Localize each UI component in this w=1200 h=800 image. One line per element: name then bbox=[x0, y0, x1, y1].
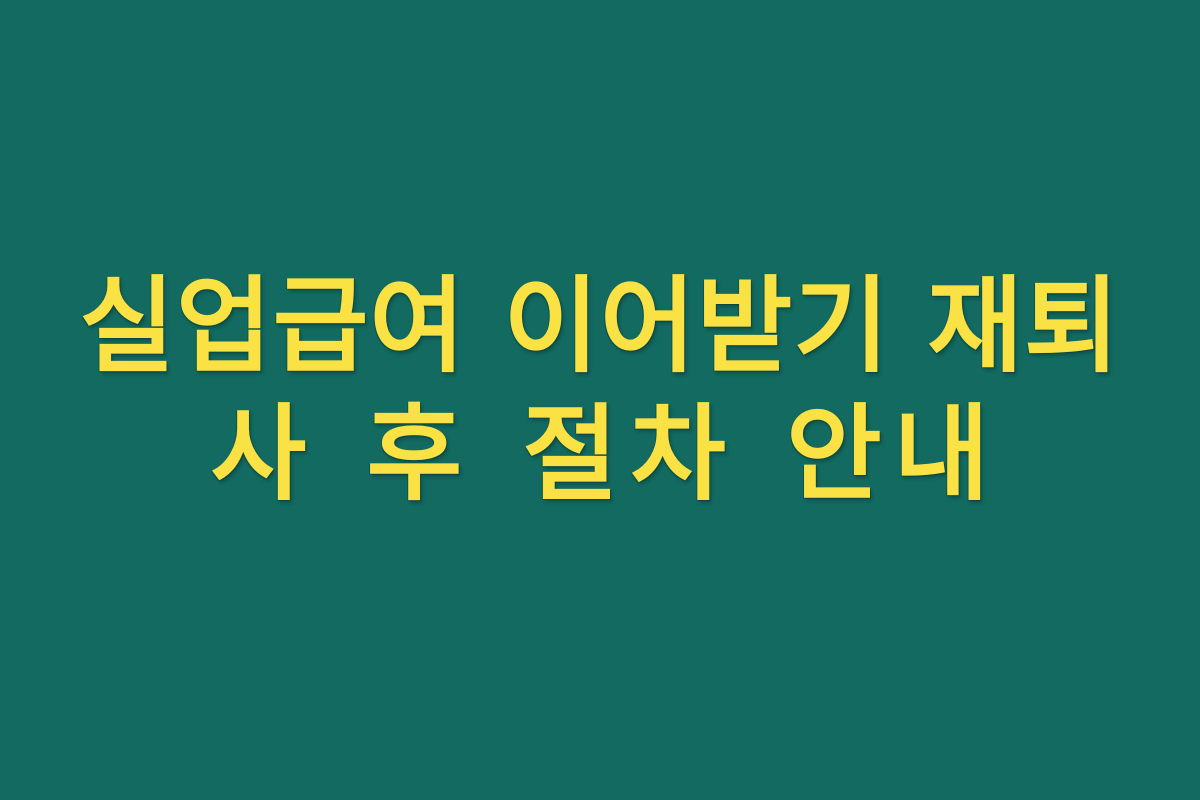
title-line-1: 실업급여 이어받기 재퇴 bbox=[0, 262, 1200, 390]
page-title: 실업급여 이어받기 재퇴 사 후 절차 안내 bbox=[0, 262, 1200, 518]
banner-background: 실업급여 이어받기 재퇴 사 후 절차 안내 bbox=[0, 0, 1200, 800]
title-line-2: 사 후 절차 안내 bbox=[0, 390, 1200, 518]
